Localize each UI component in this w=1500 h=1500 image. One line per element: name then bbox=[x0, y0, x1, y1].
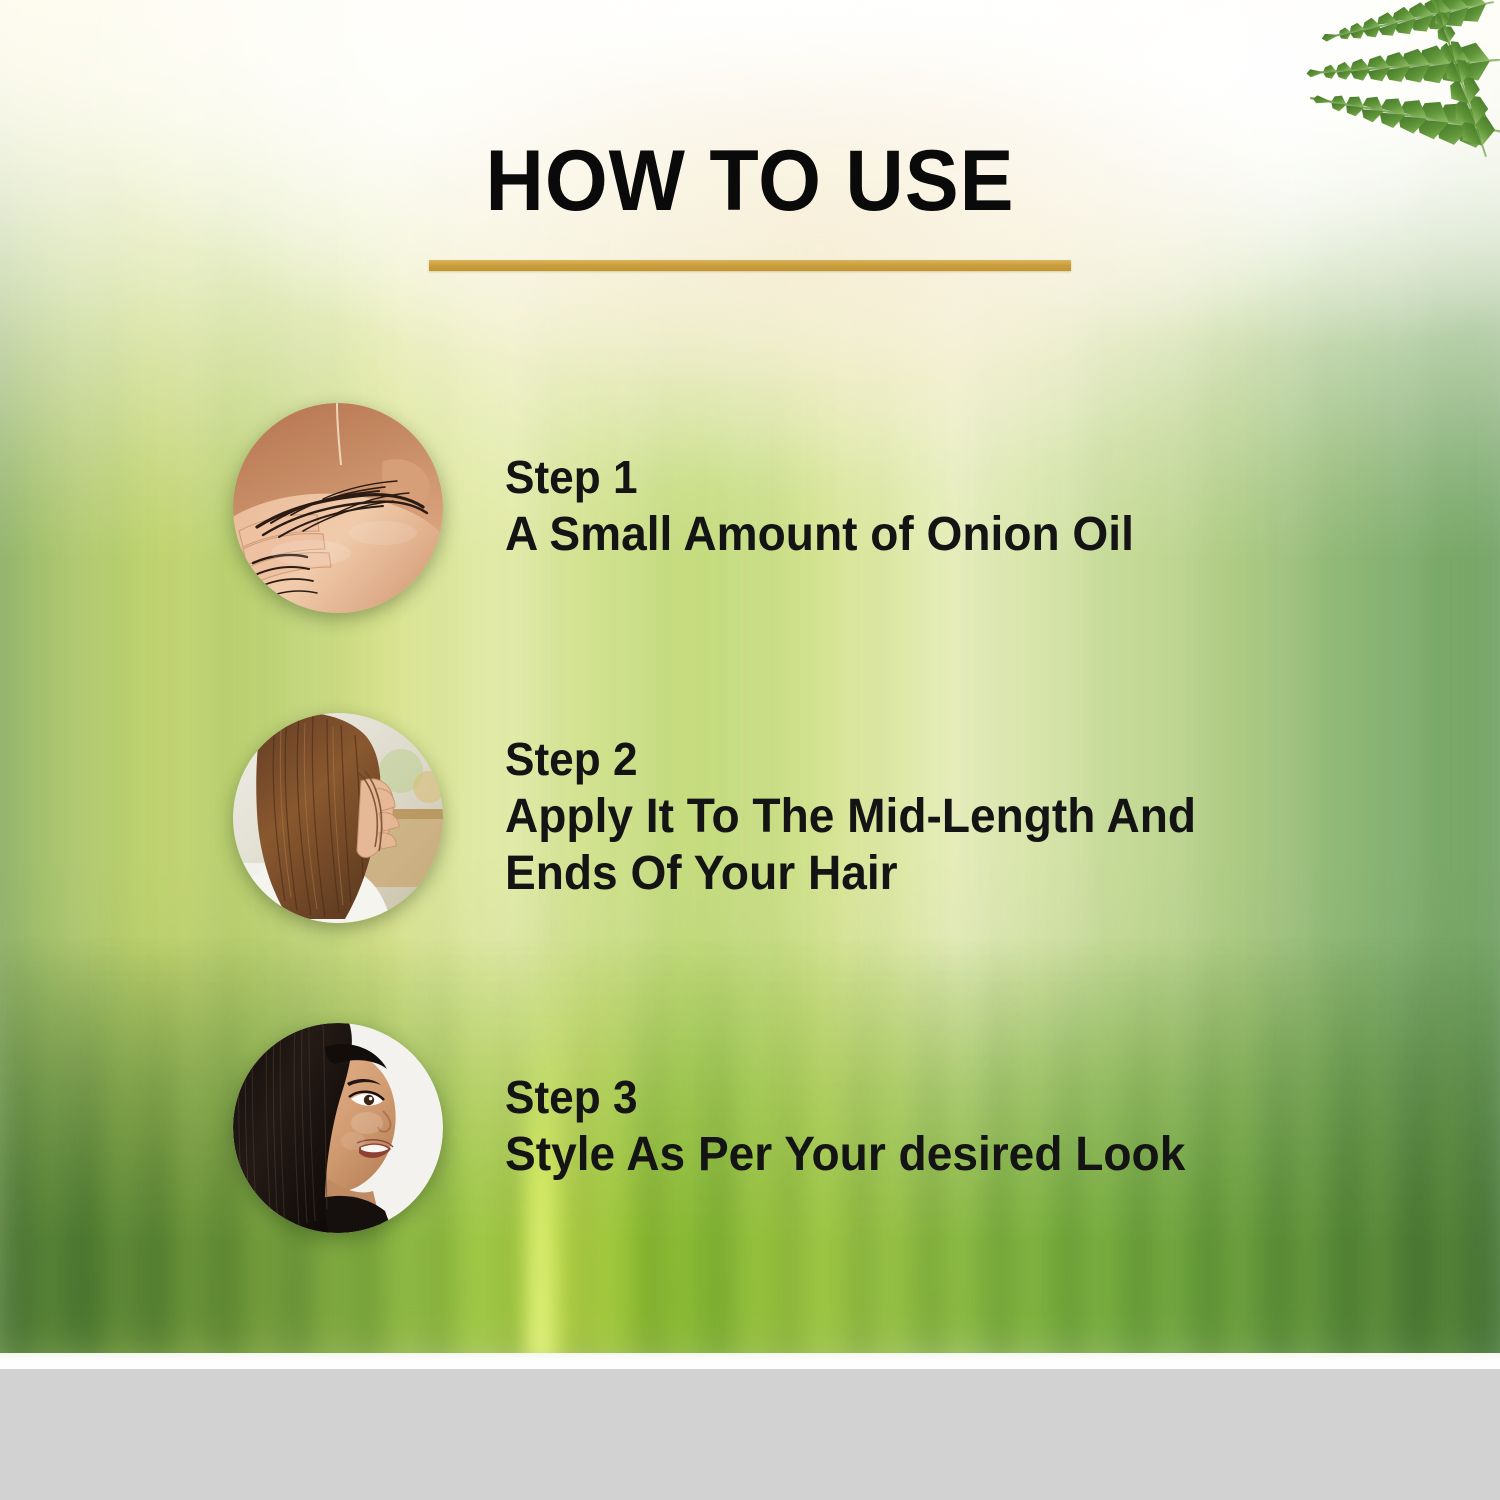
step-item-1: Step 1 A Small Amount of Onion Oil bbox=[233, 403, 1160, 613]
steps-list: Step 1 A Small Amount of Onion Oil bbox=[0, 0, 1500, 1362]
woman-brown-hair-back-photo bbox=[233, 713, 443, 923]
smiling-woman-straight-hair-photo bbox=[233, 1023, 443, 1233]
step-label: Step 3 bbox=[505, 1072, 1185, 1124]
hand-with-oil-and-hair-photo bbox=[233, 403, 443, 613]
step-description: Style As Per Your desired Look bbox=[505, 1127, 1185, 1184]
bottom-gray-band bbox=[0, 1369, 1500, 1500]
step-description: A Small Amount of Onion Oil bbox=[505, 507, 1134, 564]
step-text-3: Step 3 Style As Per Your desired Look bbox=[505, 1072, 1214, 1184]
step-description: Apply It To The Mid-Length And Ends Of Y… bbox=[505, 789, 1196, 902]
how-to-use-infographic: HOW TO USE bbox=[0, 0, 1500, 1500]
step-text-2: Step 2 Apply It To The Mid-Length And En… bbox=[505, 734, 1225, 903]
step-label: Step 2 bbox=[505, 734, 1196, 786]
bottom-white-strip bbox=[0, 1353, 1500, 1369]
step-text-1: Step 1 A Small Amount of Onion Oil bbox=[505, 452, 1160, 564]
step-item-3: Step 3 Style As Per Your desired Look bbox=[233, 1023, 1214, 1233]
step-item-2: Step 2 Apply It To The Mid-Length And En… bbox=[233, 713, 1225, 923]
step-label: Step 1 bbox=[505, 452, 1134, 504]
